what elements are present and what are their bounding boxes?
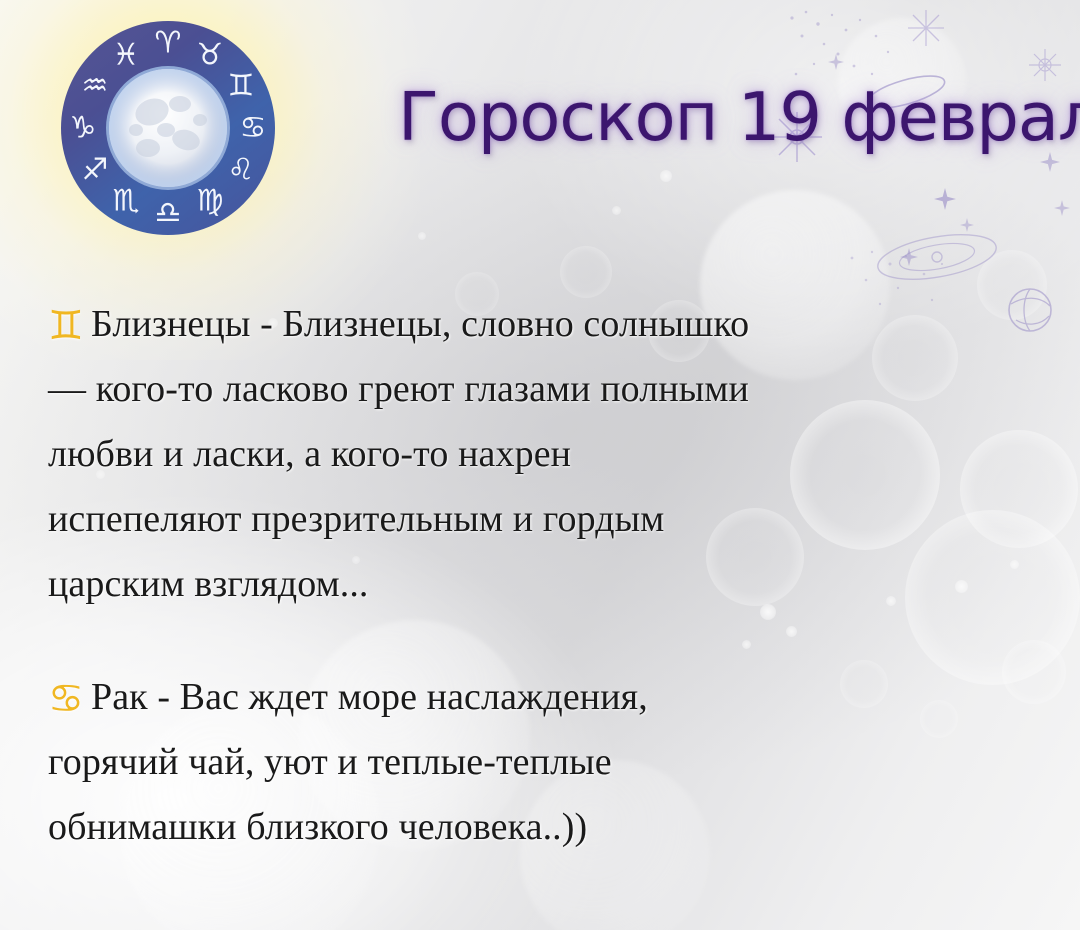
entry-line: любви и ласки, а кого-то нахрен bbox=[48, 422, 1028, 487]
wheel-sign-cancer: ♋ bbox=[240, 111, 267, 146]
wheel-sign-pisces: ♓ bbox=[113, 38, 140, 73]
entry-line: царским взглядом... bbox=[48, 552, 1028, 617]
wheel-sign-aquarius: ♒ bbox=[82, 69, 109, 104]
zodiac-wheel: ♈ ♉ ♊ ♋ ♌ ♍ ♎ ♏ ♐ ♑ ♒ ♓ bbox=[60, 20, 276, 236]
entry-line-text: Близнецы - Близнецы, словно солнышко bbox=[91, 303, 749, 345]
entry-line: ♊Близнецы - Близнецы, словно солнышко bbox=[48, 292, 1028, 357]
entry-line: горячий чай, уют и теплые-теплые bbox=[48, 730, 1028, 795]
entry-line: — кого-то ласково греют глазами полными bbox=[48, 357, 1028, 422]
wheel-sign-gemini: ♊ bbox=[228, 69, 255, 104]
cancer-icon: ♋ bbox=[48, 679, 84, 719]
wheel-sign-capricorn: ♑ bbox=[70, 111, 97, 146]
wheel-sign-sagittarius: ♐ bbox=[82, 153, 109, 188]
horoscope-body: ♊Близнецы - Близнецы, словно солнышко — … bbox=[48, 292, 1028, 860]
wheel-sign-scorpio: ♏ bbox=[113, 184, 140, 219]
wheel-sign-taurus: ♉ bbox=[197, 38, 224, 73]
horoscope-entry-cancer: ♋Рак - Вас ждет море наслаждения, горячи… bbox=[48, 665, 1028, 860]
entry-line: обнимашки близкого человека..)) bbox=[48, 795, 1028, 860]
wheel-sign-leo: ♌ bbox=[228, 153, 255, 188]
page-title: Гороскоп 19 февраля bbox=[398, 78, 1080, 156]
horoscope-poster: ♈ ♉ ♊ ♋ ♌ ♍ ♎ ♏ ♐ ♑ ♒ ♓ Гороскоп 19 февр… bbox=[0, 0, 1080, 930]
gemini-icon: ♊ bbox=[48, 306, 84, 346]
horoscope-entry-gemini: ♊Близнецы - Близнецы, словно солнышко — … bbox=[48, 292, 1028, 617]
wheel-sign-virgo: ♍ bbox=[197, 184, 224, 219]
entry-line: испепеляют презрительным и гордым bbox=[48, 487, 1028, 552]
wheel-sign-libra: ♎ bbox=[155, 196, 182, 231]
entry-line: ♋Рак - Вас ждет море наслаждения, bbox=[48, 665, 1028, 730]
entry-line-text: Рак - Вас ждет море наслаждения, bbox=[91, 676, 648, 718]
wheel-sign-aries: ♈ bbox=[155, 26, 182, 61]
